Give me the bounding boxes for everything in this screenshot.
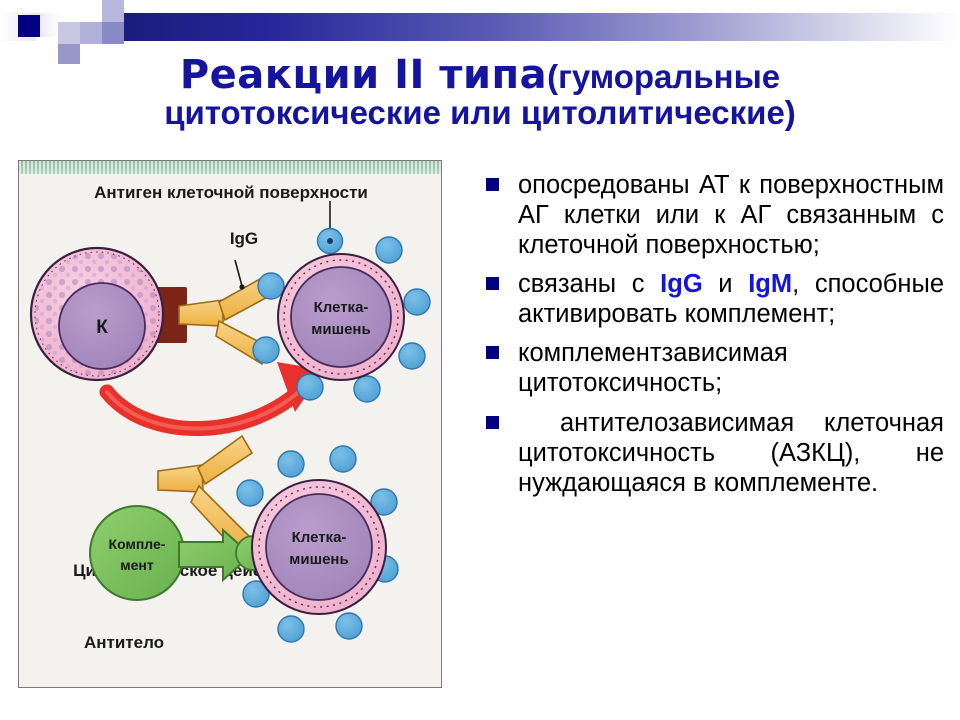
- bullet-item: связаны с IgG и IgM, способные активиров…: [486, 269, 944, 329]
- surface-antigen-receptor: [253, 337, 279, 363]
- text-run: комплементзависимая цитотоксичность;: [518, 339, 788, 397]
- slide-title: Реакции II типа(гуморальные цитотоксичес…: [0, 54, 960, 131]
- complement-label-line1: Компле-: [109, 536, 166, 552]
- header-square-pale: [58, 22, 80, 44]
- highlighted-term: IgM: [748, 270, 792, 298]
- title-line2-text: цитотоксические или цитолитические): [164, 94, 796, 131]
- bullet-square-icon: [486, 346, 499, 359]
- text-run: связаны с: [518, 270, 660, 298]
- bullet-item: комплементзависимая цитотоксичность;: [486, 338, 944, 398]
- header-square-mid: [80, 22, 102, 44]
- bullet-item: опосредованы АТ к поверхностным АГ клетк…: [486, 170, 944, 260]
- header-gradient-bar: [113, 13, 960, 41]
- bullet-square-icon: [486, 277, 499, 290]
- surface-antigen-receptor: [297, 374, 323, 400]
- text-run: опосредованы АТ к поверхностным АГ клетк…: [518, 171, 944, 259]
- bullet-square-icon: [486, 416, 499, 429]
- bullet-text: антителозависимая клеточная цитотоксично…: [518, 408, 944, 498]
- target-cell-label-line2: мишень: [311, 321, 370, 338]
- surface-antigen-receptor: [354, 376, 380, 402]
- scan-edge-strip: [19, 161, 442, 174]
- surface-antigen-receptor: [330, 446, 356, 472]
- diagram-panel: Антиген клеточной поверхности IgG Цитото…: [18, 160, 442, 688]
- surface-antigen-receptor: [376, 237, 402, 263]
- surface-antigen-receptor: [404, 289, 430, 315]
- title-paren-text: (гуморальные: [547, 58, 780, 95]
- red-cytotoxic-arrow: [107, 362, 324, 429]
- text-run: антителозависимая клеточная цитотоксично…: [518, 409, 944, 497]
- surface-antigen-receptor: [336, 613, 362, 639]
- surface-antigen-receptor: [258, 273, 284, 299]
- title-line-2: цитотоксические или цитолитические): [0, 96, 960, 131]
- target-cell-lower: Клетка- мишень: [236, 446, 398, 642]
- bullet-list: опосредованы АТ к поверхностным АГ клетк…: [486, 170, 944, 507]
- k-effector-cell: К: [31, 248, 163, 380]
- surface-antigen-receptor: [399, 343, 425, 369]
- bullet-text: комплементзависимая цитотоксичность;: [518, 338, 944, 398]
- igg-leader-line: [235, 260, 242, 286]
- complement-label-line2: мент: [120, 557, 154, 573]
- header-square-deep: [102, 22, 124, 44]
- target-cell-upper: Клетка- мишень: [253, 229, 430, 403]
- header-square-navy: [18, 15, 40, 37]
- title-main-text: Реакции II типа: [180, 52, 547, 98]
- target-cell-lower-label-line1: Клетка-: [292, 529, 347, 546]
- surface-antigen-receptor: [237, 480, 263, 506]
- target-cell-lower-label-line2: мишень: [289, 551, 348, 568]
- header-square-light-top: [102, 0, 124, 22]
- bullet-item: антителозависимая клеточная цитотоксично…: [486, 408, 944, 498]
- header-decoration-band: [0, 0, 960, 52]
- surface-antigen-receptor: [278, 616, 304, 642]
- complement-source: Компле- мент: [90, 506, 184, 600]
- bullet-text: связаны с IgG и IgM, способные активиров…: [518, 269, 944, 329]
- highlighted-term: IgG: [660, 270, 703, 298]
- adcc-and-cdc-diagram: К Клетка- мишень: [19, 174, 442, 688]
- k-cell-label: К: [96, 317, 108, 338]
- bullet-square-icon: [486, 178, 499, 191]
- title-line-1: Реакции II типа(гуморальные: [0, 54, 960, 96]
- target-cell-label-line1: Клетка-: [314, 299, 369, 316]
- bullet-text: опосредованы АТ к поверхностным АГ клетк…: [518, 170, 944, 260]
- text-run: и: [703, 270, 749, 298]
- surface-antigen-receptor: [278, 451, 304, 477]
